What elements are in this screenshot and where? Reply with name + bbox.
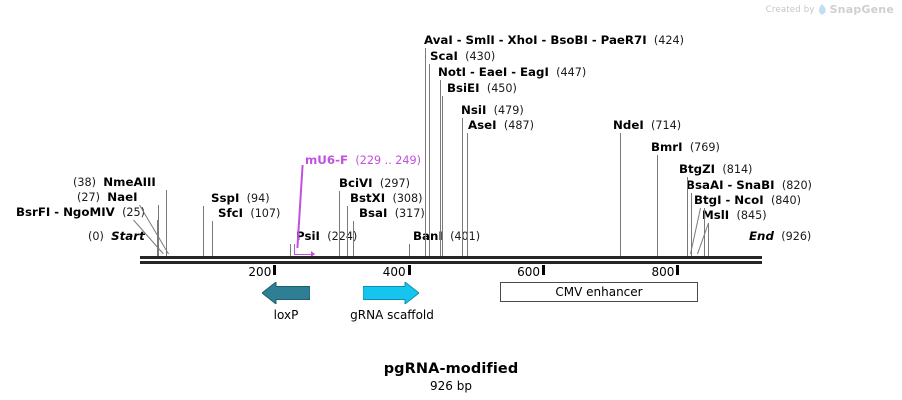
leader-line-nmeaiii <box>166 190 167 256</box>
leader-line-asei <box>467 133 468 256</box>
leader-line-sfci <box>212 221 213 256</box>
enzyme-label-bmri[interactable]: BmrI (769) <box>651 142 720 154</box>
watermark-brand-text: SnapGene <box>830 3 894 16</box>
ruler-tick-800 <box>676 265 679 275</box>
enzyme-label-scai[interactable]: ScaI (430) <box>430 51 495 63</box>
enzyme-label-bsrfi[interactable]: BsrFI - NgoMIV (25) <box>16 207 145 219</box>
enzyme-label-sfci[interactable]: SfcI (107) <box>218 208 280 220</box>
enzyme-label-avai[interactable]: AvaI - SmlI - XhoI - BsoBI - PaeR7I (424… <box>424 35 684 47</box>
sequence-length-label: 926 bp <box>0 379 902 393</box>
ruler-tick-600 <box>542 265 545 275</box>
leader-line-noti <box>440 80 441 256</box>
watermark-created-by-text: Created by <box>766 5 815 15</box>
leader-line-psii <box>290 244 291 256</box>
page-title: pgRNA-modified <box>0 361 902 377</box>
enzyme-label-mslI[interactable]: MslI (845) <box>702 210 767 222</box>
enzyme-label-asei[interactable]: AseI (487) <box>468 120 534 132</box>
enzyme-label-bsai[interactable]: BsaI (317) <box>359 208 425 220</box>
feature-label-loxp: loxP <box>274 308 299 322</box>
primer-label-mu6f[interactable]: mU6-F (229 .. 249) <box>305 155 421 167</box>
plasmid-map-canvas: Created by SnapGene BsrFI - NgoMIV (25)(… <box>0 0 902 400</box>
enzyme-label-nsii[interactable]: NsiI (479) <box>461 105 524 117</box>
ruler-tick-label-600: 600 <box>517 265 540 279</box>
enzyme-label-noti[interactable]: NotI - EaeI - EagI (447) <box>438 67 586 79</box>
ruler-tick-label-400: 400 <box>383 265 406 279</box>
leader-line-nsii <box>462 118 463 256</box>
leader-line-mslI <box>708 223 709 256</box>
enzyme-label-btgi[interactable]: BtgI - NcoI (840) <box>694 195 801 207</box>
ruler-tick-label-200: 200 <box>248 265 271 279</box>
feature-arrow-grna-scaffold[interactable] <box>363 282 419 304</box>
leader-line-bcivi <box>339 191 340 256</box>
feature-arrow-loxp[interactable] <box>262 282 310 304</box>
end-marker-label[interactable]: End (926) <box>749 231 811 243</box>
leader-line-ndei <box>620 133 621 256</box>
feature-label-grna-scaffold: gRNA scaffold <box>350 308 434 322</box>
leader-line-scai <box>429 64 430 256</box>
backbone-bottom-strand <box>140 261 762 264</box>
snapgene-watermark: Created by SnapGene <box>766 3 894 16</box>
backbone-top-strand <box>140 256 762 259</box>
leader-line-btgzi <box>687 177 688 256</box>
enzyme-label-sspi[interactable]: SspI (94) <box>211 193 270 205</box>
enzyme-label-nmeaiii[interactable]: (38) NmeAIII <box>73 177 156 189</box>
enzyme-label-psii[interactable]: PsiI (224) <box>296 231 357 243</box>
feature-box-cmv-enhancer[interactable]: CMV enhancer <box>500 282 698 302</box>
leader-line-bstxi <box>347 206 348 256</box>
enzyme-label-bstxi[interactable]: BstXI (308) <box>350 193 423 205</box>
enzyme-label-bani[interactable]: BanI (401) <box>413 231 480 243</box>
feature-label-cmv-enhancer: CMV enhancer <box>555 285 642 299</box>
start-marker-label[interactable]: (0) Start <box>88 231 145 243</box>
leader-line-sspi <box>203 206 204 256</box>
leader-line-bsiei <box>442 96 443 256</box>
enzyme-label-ndei[interactable]: NdeI (714) <box>613 120 681 132</box>
primer-arrow-mu6f[interactable] <box>294 244 314 255</box>
leader-line-bmri <box>657 155 658 256</box>
leader-line-bsai <box>353 221 354 256</box>
enzyme-label-bcivi[interactable]: BciVI (297) <box>339 178 410 190</box>
enzyme-label-btgzi[interactable]: BtgZI (814) <box>679 164 752 176</box>
ruler-tick-400 <box>408 265 411 275</box>
snapgene-droplet-icon <box>819 4 826 15</box>
leader-line-avai <box>425 48 426 256</box>
leader-line-bani <box>409 244 410 256</box>
ruler-tick-200 <box>273 265 276 275</box>
ruler-tick-label-800: 800 <box>651 265 674 279</box>
enzyme-label-bsiei[interactable]: BsiEI (450) <box>447 83 517 95</box>
enzyme-label-naei[interactable]: (27) NaeI <box>77 192 138 204</box>
enzyme-label-bsaai[interactable]: BsaAI - SnaBI (820) <box>686 180 812 192</box>
